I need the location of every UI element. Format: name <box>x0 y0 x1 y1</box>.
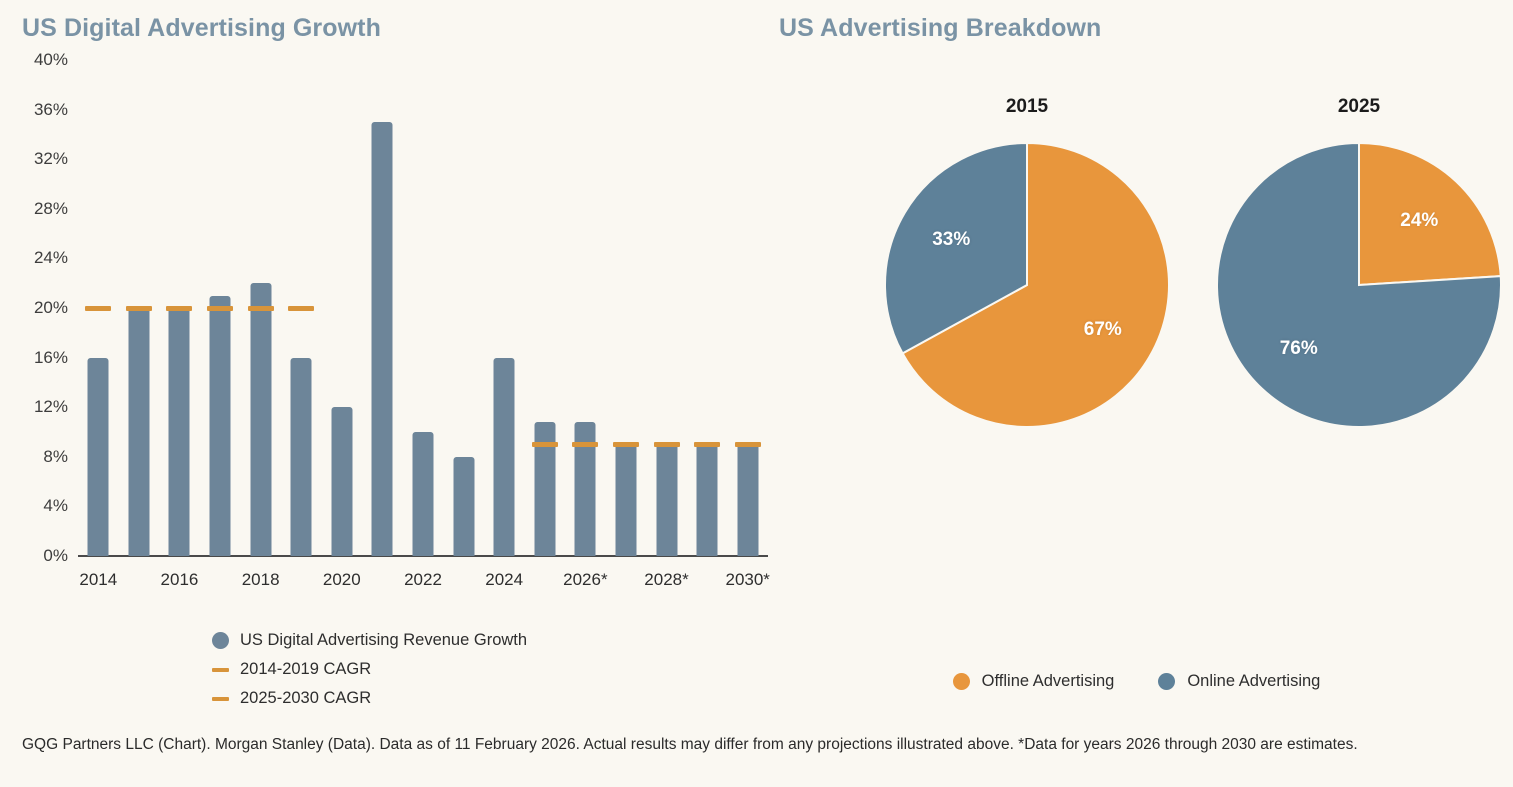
legend-item[interactable]: 2025-2030 CAGR <box>212 684 527 713</box>
y-tick-label: 0% <box>12 546 68 566</box>
bar-slot <box>688 60 726 556</box>
legend-item-label: US Digital Advertising Revenue Growth <box>240 631 527 650</box>
bar-slot <box>445 60 483 556</box>
pie-slice-label: 33% <box>932 229 970 251</box>
y-tick-label: 16% <box>12 348 68 368</box>
cagr-line-segment <box>207 306 233 311</box>
y-tick-label: 8% <box>12 447 68 467</box>
bar-slot <box>607 60 645 556</box>
legend-item-label: Online Advertising <box>1187 672 1320 691</box>
cagr-line-segment <box>654 442 680 447</box>
bar[interactable] <box>494 358 515 556</box>
legend-item[interactable]: Online Advertising <box>1158 672 1320 691</box>
bar[interactable] <box>413 432 434 556</box>
pie-2015: 67%33% <box>882 140 1172 460</box>
x-axis-ticks: 2014201620182020202220242026*2028*2030* <box>78 570 768 604</box>
y-tick-label: 36% <box>12 100 68 120</box>
pie-svg <box>882 140 1172 430</box>
pie-chart-title: US Advertising Breakdown <box>779 14 1101 43</box>
pie-slice-label: 76% <box>1280 338 1318 360</box>
bar-slot <box>526 60 564 556</box>
pie-slice-label: 67% <box>1084 319 1122 341</box>
bar-chart-legend: US Digital Advertising Revenue Growth201… <box>212 626 527 713</box>
x-tick-label: 2022 <box>383 570 463 590</box>
bar[interactable] <box>615 442 636 556</box>
bar[interactable] <box>656 442 677 556</box>
y-tick-label: 12% <box>12 397 68 417</box>
legend-item[interactable]: US Digital Advertising Revenue Growth <box>212 626 527 655</box>
chart-page: US Digital Advertising Growth 40%36%32%2… <box>0 0 1513 787</box>
bar-plot-area: 40%36%32%28%24%20%16%12%8%4%0% 201420162… <box>0 0 790 600</box>
bar[interactable] <box>331 407 352 556</box>
legend-dash-icon <box>212 668 229 672</box>
pie-svg <box>1214 140 1504 430</box>
y-tick-label: 40% <box>12 50 68 70</box>
bar-slot <box>485 60 523 556</box>
bar-slot <box>566 60 604 556</box>
cagr-line-segment <box>613 442 639 447</box>
legend-circle-icon <box>1158 673 1175 690</box>
bar-slot <box>648 60 686 556</box>
bar[interactable] <box>250 283 271 556</box>
bar[interactable] <box>291 358 312 556</box>
bar[interactable] <box>372 122 393 556</box>
bar-slot <box>404 60 442 556</box>
cagr-line-segment <box>85 306 111 311</box>
pie-group-2015: 2015 67%33% <box>882 96 1172 460</box>
pie-group-2025: 2025 24%76% <box>1214 96 1504 460</box>
x-tick-label: 2024 <box>464 570 544 590</box>
bar-chart-panel: US Digital Advertising Growth 40%36%32%2… <box>0 0 790 720</box>
legend-circle-icon <box>212 632 229 649</box>
x-tick-label: 2014 <box>58 570 138 590</box>
legend-item[interactable]: 2014-2019 CAGR <box>212 655 527 684</box>
cagr-line-segment <box>532 442 558 447</box>
legend-circle-icon <box>953 673 970 690</box>
cagr-line-segment <box>126 306 152 311</box>
bar[interactable] <box>88 358 109 556</box>
cagr-line-segment <box>694 442 720 447</box>
bar-slot <box>323 60 361 556</box>
cagr-line-segment <box>166 306 192 311</box>
bars-container <box>78 60 768 556</box>
pie-chart-panel: US Advertising Breakdown 2015 67%33% 202… <box>760 0 1513 720</box>
pie-year-label-2015: 2015 <box>882 96 1172 118</box>
x-tick-label: 2018 <box>221 570 301 590</box>
cagr-line-segment <box>248 306 274 311</box>
x-tick-label: 2016 <box>139 570 219 590</box>
bar[interactable] <box>128 308 149 556</box>
pie-chart-legend: Offline AdvertisingOnline Advertising <box>760 672 1513 691</box>
cagr-line-segment <box>288 306 314 311</box>
y-tick-label: 4% <box>12 496 68 516</box>
y-axis-ticks: 40%36%32%28%24%20%16%12%8%4%0% <box>12 0 68 600</box>
bar[interactable] <box>453 457 474 556</box>
legend-item-label: 2025-2030 CAGR <box>240 689 371 708</box>
y-tick-label: 24% <box>12 248 68 268</box>
bar-slot <box>363 60 401 556</box>
bar[interactable] <box>697 443 718 556</box>
cagr-line-segment <box>735 442 761 447</box>
source-footnote: GQG Partners LLC (Chart). Morgan Stanley… <box>22 733 1492 757</box>
bar[interactable] <box>210 296 231 556</box>
pie-year-label-2025: 2025 <box>1214 96 1504 118</box>
bar[interactable] <box>737 444 758 556</box>
pie-2025: 24%76% <box>1214 140 1504 460</box>
cagr-line-segment <box>572 442 598 447</box>
pie-slice-label: 24% <box>1400 210 1438 232</box>
y-tick-label: 28% <box>12 199 68 219</box>
x-tick-label: 2026* <box>545 570 625 590</box>
bar[interactable] <box>169 308 190 556</box>
x-tick-label: 2028* <box>627 570 707 590</box>
x-tick-label: 2020 <box>302 570 382 590</box>
legend-item-label: Offline Advertising <box>982 672 1115 691</box>
y-tick-label: 32% <box>12 149 68 169</box>
legend-dash-icon <box>212 697 229 701</box>
y-tick-label: 20% <box>12 298 68 318</box>
legend-item-label: 2014-2019 CAGR <box>240 660 371 679</box>
legend-item[interactable]: Offline Advertising <box>953 672 1115 691</box>
